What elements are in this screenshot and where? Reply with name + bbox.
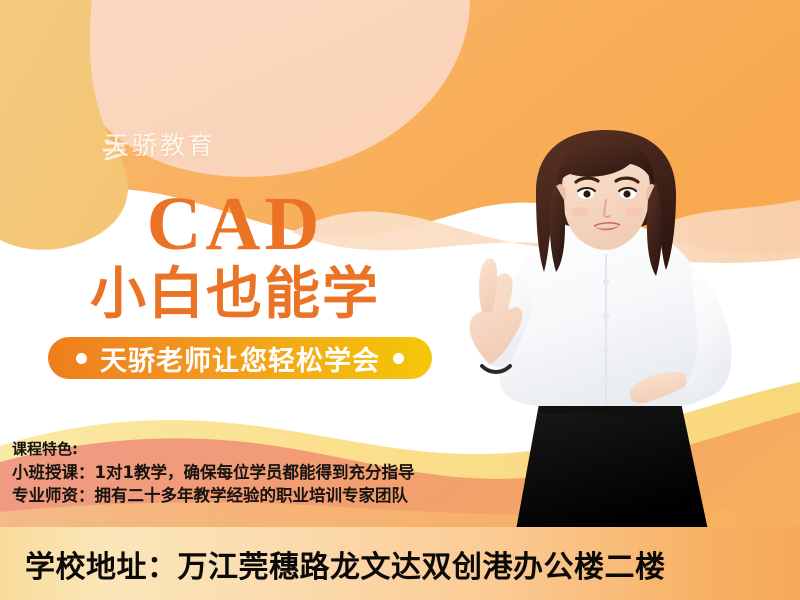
slogan-badge: 天骄老师让您轻松学会 bbox=[48, 337, 432, 379]
slogan-badge-text: 天骄老师让您轻松学会 bbox=[100, 339, 380, 378]
instructor-photo bbox=[420, 130, 800, 530]
feature-item-class-size: 小班授课：1对1教学，确保每位学员都能得到充分指导 bbox=[12, 461, 414, 484]
badge-dot-right-icon bbox=[393, 353, 404, 364]
course-features-block: 课程特色: 小班授课：1对1教学，确保每位学员都能得到充分指导 专业师资：拥有二… bbox=[12, 438, 414, 507]
features-heading: 课程特色: bbox=[12, 438, 414, 461]
headline-main-title: CAD bbox=[0, 186, 470, 262]
school-address-text: 学校地址：万江莞穗路龙文达双创港办公楼二楼 bbox=[25, 542, 666, 586]
headline-block: CAD 小白也能学 bbox=[0, 186, 470, 326]
headline-subtitle: 小白也能学 bbox=[0, 264, 470, 326]
brand-logo-text: 天骄教育 bbox=[104, 126, 216, 162]
feature-item-teachers: 专业师资：拥有二十多年教学经验的职业培训专家团队 bbox=[12, 484, 414, 507]
course-promo-poster: 天骄教育 CAD 小白也能学 天骄老师让您轻松学会 课程特色: 小班授课：1对1… bbox=[0, 0, 800, 600]
badge-dot-left-icon bbox=[76, 353, 87, 364]
address-bar: 学校地址：万江莞穗路龙文达双创港办公楼二楼 bbox=[0, 527, 800, 600]
